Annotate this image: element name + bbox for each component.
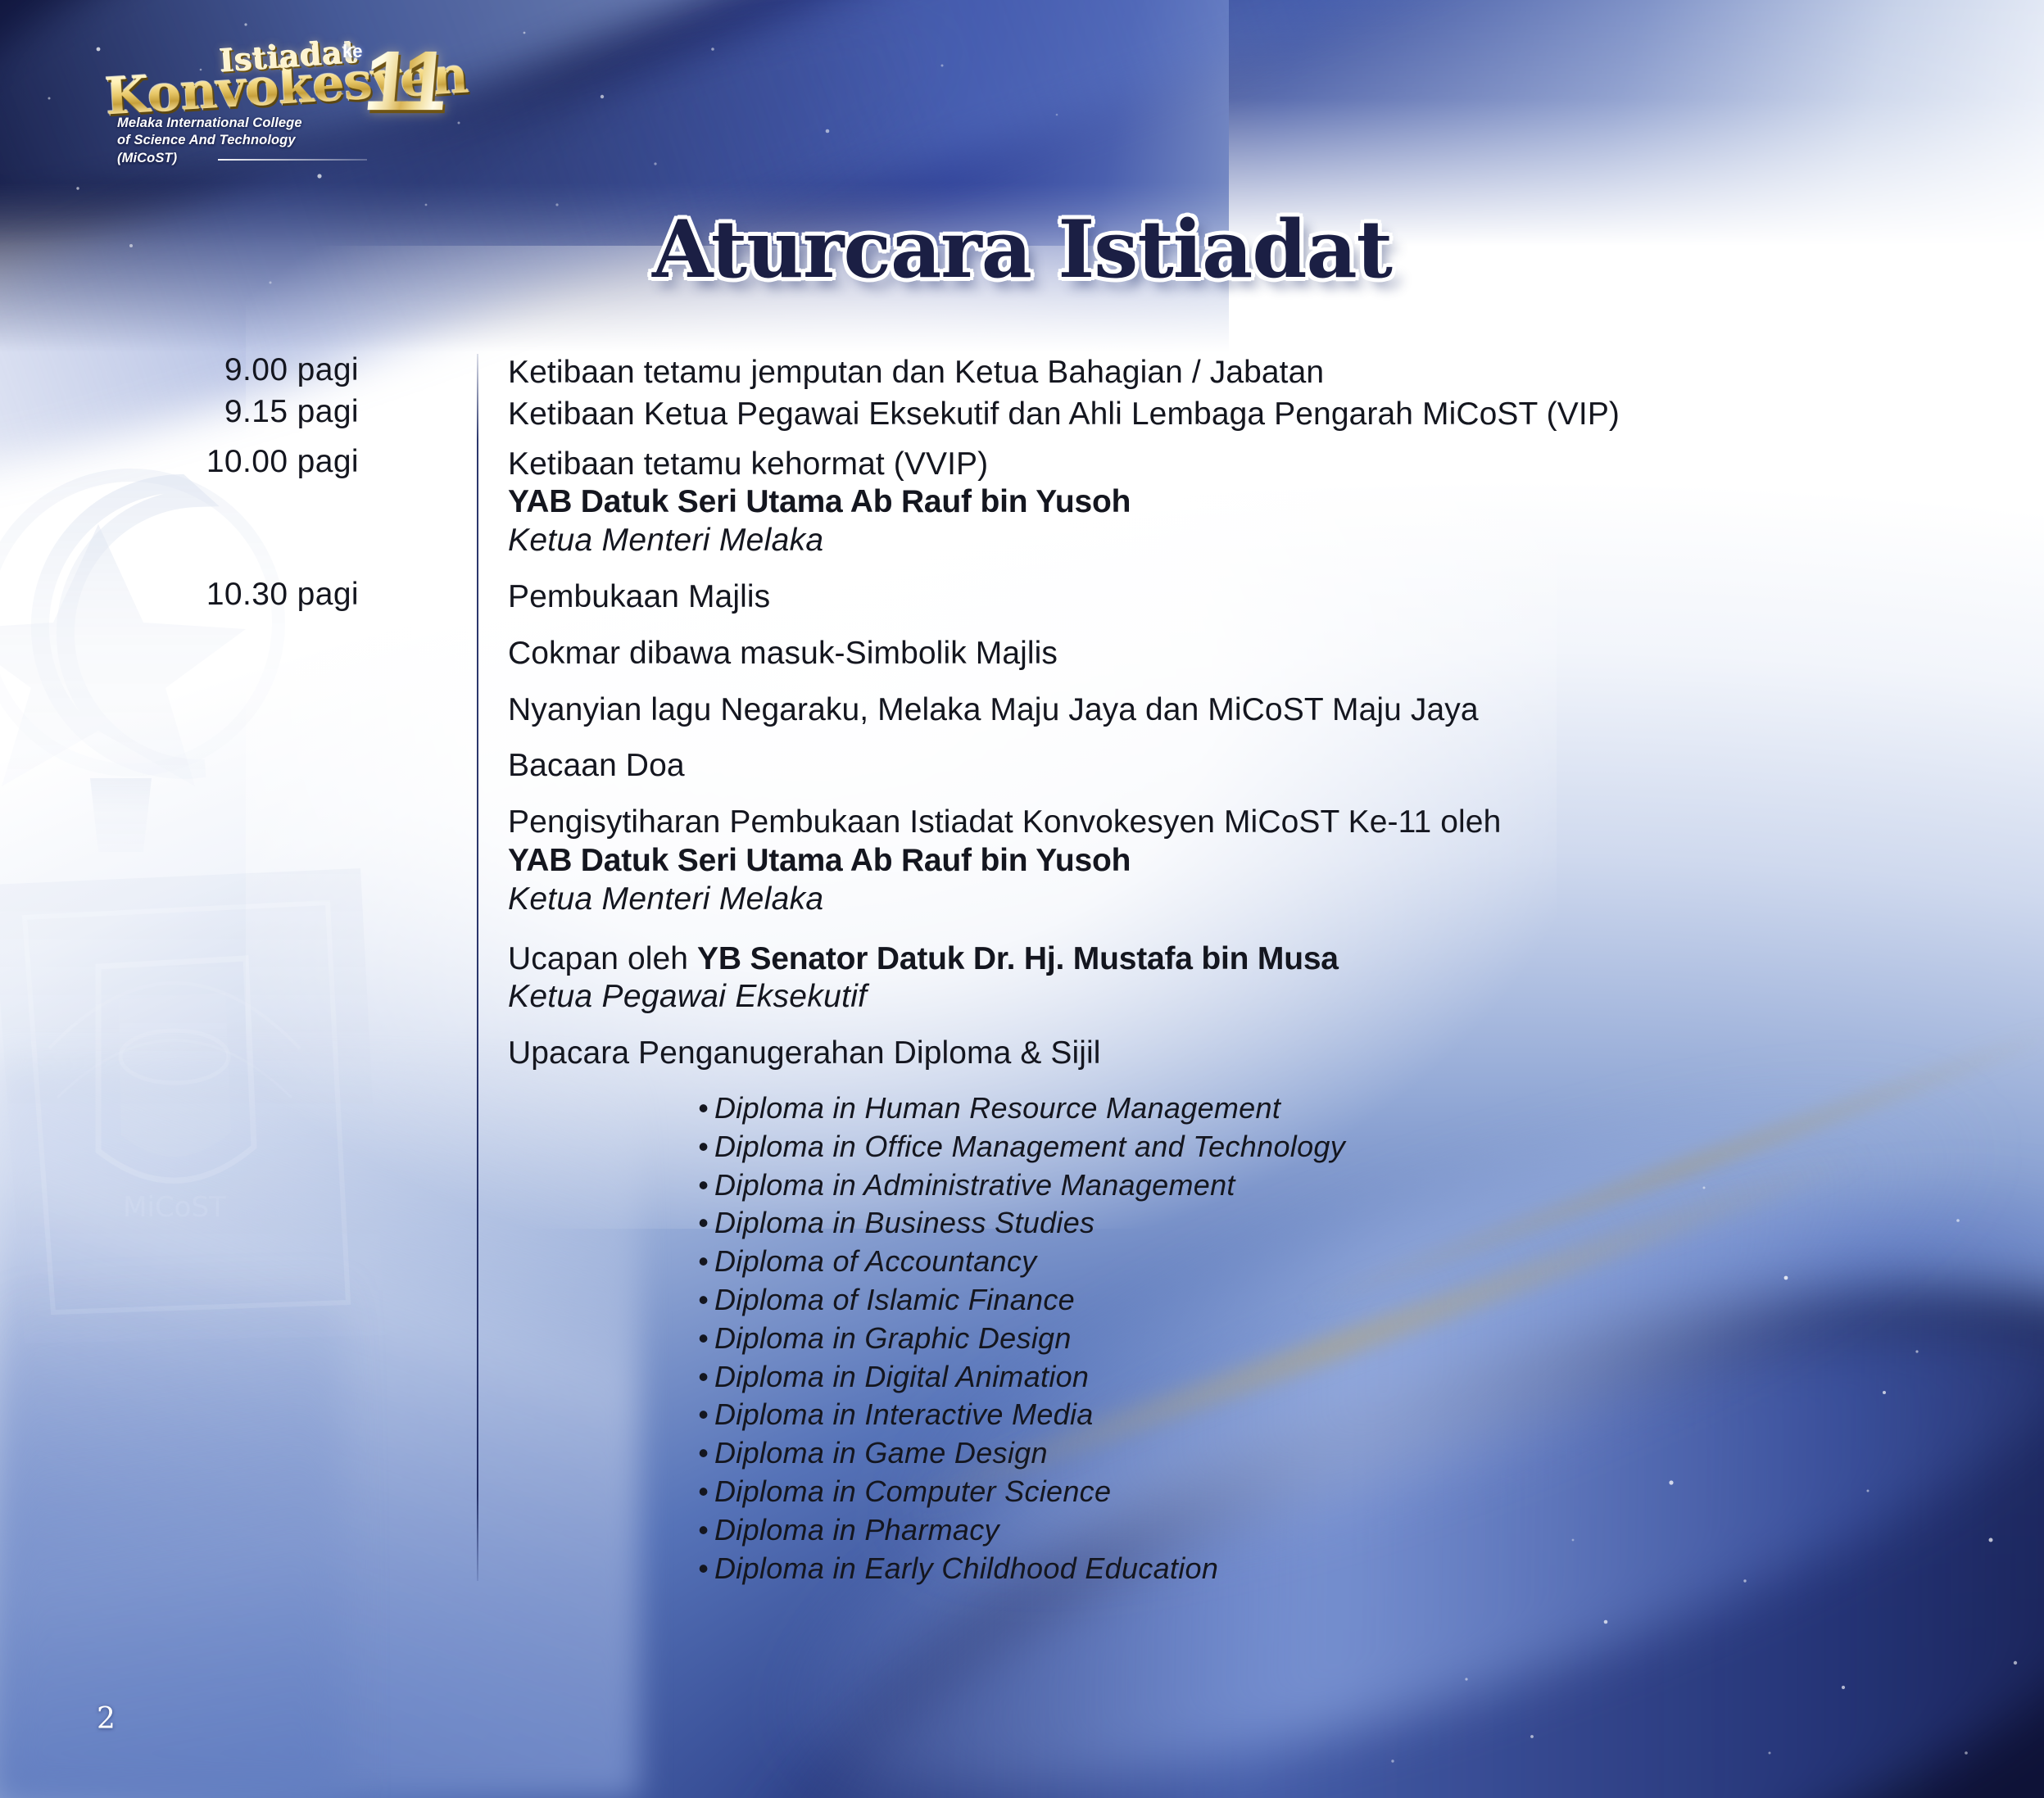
schedule-time: 9.00 pagi: [0, 354, 426, 392]
bullet-icon: •: [698, 1550, 714, 1588]
event-text-emphasis: YB Senator Datuk Dr. Hj. Mustafa bin Mus…: [697, 941, 1339, 976]
diploma-list-item: •Diploma in Computer Science: [698, 1473, 2044, 1511]
diploma-list-item: •Diploma in Administrative Management: [698, 1166, 2044, 1205]
schedule-time: 10.30 pagi: [0, 578, 426, 617]
diploma-list-item: •Diploma in Business Studies: [698, 1204, 2044, 1243]
schedule-event-body: Pembukaan Majlis: [426, 578, 2044, 617]
bullet-icon: •: [698, 1511, 714, 1550]
schedule-event-line: Ketua Menteri Melaka: [508, 881, 2044, 919]
bullet-icon: •: [698, 1281, 714, 1320]
schedule-event-body: Ucapan oleh YB Senator Datuk Dr. Hj. Mus…: [426, 940, 2044, 1017]
schedule-time: [0, 940, 426, 1017]
schedule-event-line: Nyanyian lagu Negaraku, Melaka Maju Jaya…: [508, 691, 2044, 730]
schedule-time: [0, 635, 426, 673]
schedule-event-body: Nyanyian lagu Negaraku, Melaka Maju Jaya…: [426, 691, 2044, 730]
schedule-time: [0, 691, 426, 730]
bullet-icon: •: [698, 1243, 714, 1281]
schedule-row: 10.00 pagiKetibaan tetamu kehormat (VVIP…: [0, 446, 2044, 560]
schedule-event-line: Bacaan Doa: [508, 747, 2044, 786]
schedule-row: Pengisytiharan Pembukaan Istiadat Konvok…: [0, 804, 2044, 918]
schedule-row: Bacaan Doa: [0, 747, 2044, 786]
schedule-row: 9.15 pagiKetibaan Ketua Pegawai Eksekuti…: [0, 396, 2044, 434]
schedule-row: Upacara Penganugerahan Diploma & Sijil•D…: [0, 1035, 2044, 1587]
schedule-event-body: Ketibaan Ketua Pegawai Eksekutif dan Ahl…: [426, 396, 2044, 434]
schedule-event-body: Bacaan Doa: [426, 747, 2044, 786]
bullet-icon: •: [698, 1473, 714, 1511]
diploma-list-item: •Diploma in Human Resource Management: [698, 1089, 2044, 1128]
schedule-row: 10.30 pagiPembukaan Majlis: [0, 578, 2044, 617]
konvokesyen-logo: Konvokesyen Istiadat ke 11 Melaka Intern…: [97, 36, 523, 151]
schedule-section: 9.00 pagiKetibaan tetamu jemputan dan Ke…: [0, 354, 2044, 1591]
schedule-rows: 9.00 pagiKetibaan tetamu jemputan dan Ke…: [0, 354, 2044, 1587]
schedule-event-line: Ketua Pegawai Eksekutif: [508, 978, 2044, 1017]
diploma-list-item: •Diploma in Early Childhood Education: [698, 1550, 2044, 1588]
schedule-event-line: Ketibaan tetamu kehormat (VVIP): [508, 446, 2044, 484]
logo-underline-rule: [218, 159, 367, 161]
schedule-event-body: Cokmar dibawa masuk-Simbolik Majlis: [426, 635, 2044, 673]
schedule-row: Cokmar dibawa masuk-Simbolik Majlis: [0, 635, 2044, 673]
schedule-event-line: Pengisytiharan Pembukaan Istiadat Konvok…: [508, 804, 2044, 842]
schedule-event-line: Upacara Penganugerahan Diploma & Sijil: [508, 1035, 2044, 1073]
diploma-list-item: •Diploma in Digital Animation: [698, 1358, 2044, 1397]
schedule-event-line: Cokmar dibawa masuk-Simbolik Majlis: [508, 635, 2044, 673]
diploma-list-item: •Diploma in Graphic Design: [698, 1320, 2044, 1358]
schedule-event-line: Ketua Menteri Melaka: [508, 522, 2044, 560]
schedule-time: 10.00 pagi: [0, 446, 426, 560]
diploma-list: •Diploma in Human Resource Management•Di…: [508, 1089, 2044, 1587]
diploma-list-item: •Diploma of Accountancy: [698, 1243, 2044, 1281]
schedule-time: 9.15 pagi: [0, 396, 426, 434]
schedule-event-body: Ketibaan tetamu kehormat (VVIP)YAB Datuk…: [426, 446, 2044, 560]
logo-subtitle-line-1: of Science And Technology: [117, 132, 363, 149]
event-text-prefix: Ucapan oleh: [508, 941, 697, 976]
bullet-icon: •: [698, 1320, 714, 1358]
diploma-list-item: •Diploma in Pharmacy: [698, 1511, 2044, 1550]
schedule-event-line: Ketibaan Ketua Pegawai Eksekutif dan Ahl…: [508, 396, 2044, 434]
diploma-list-item: •Diploma in Office Management and Techno…: [698, 1128, 2044, 1166]
schedule-event-line: YAB Datuk Seri Utama Ab Rauf bin Yusoh: [508, 483, 2044, 522]
logo-ke-label: ke: [342, 41, 362, 62]
schedule-event-line: Pembukaan Majlis: [508, 578, 2044, 617]
schedule-time: [0, 747, 426, 786]
bullet-icon: •: [698, 1166, 714, 1205]
schedule-row: Ucapan oleh YB Senator Datuk Dr. Hj. Mus…: [0, 940, 2044, 1017]
bullet-icon: •: [698, 1204, 714, 1243]
schedule-row: Nyanyian lagu Negaraku, Melaka Maju Jaya…: [0, 691, 2044, 730]
schedule-row: 9.00 pagiKetibaan tetamu jemputan dan Ke…: [0, 354, 2044, 392]
schedule-event-line: Ucapan oleh YB Senator Datuk Dr. Hj. Mus…: [508, 940, 2044, 979]
bullet-icon: •: [698, 1434, 714, 1473]
schedule-event-body: Ketibaan tetamu jemputan dan Ketua Bahag…: [426, 354, 2044, 392]
schedule-event-line: YAB Datuk Seri Utama Ab Rauf bin Yusoh: [508, 842, 2044, 881]
bullet-icon: •: [698, 1128, 714, 1166]
program-page: MiCoST Konvokesyen Istiadat ke 11 Melaka…: [0, 0, 2044, 1798]
page-number: 2: [97, 1702, 116, 1736]
page-title: Aturcara Istiadat: [0, 203, 2044, 296]
logo-subtitle-line-0: Melaka International College: [117, 115, 363, 132]
schedule-event-line: Ketibaan tetamu jemputan dan Ketua Bahag…: [508, 354, 2044, 392]
bullet-icon: •: [698, 1089, 714, 1128]
bullet-icon: •: [698, 1358, 714, 1397]
schedule-time: [0, 804, 426, 918]
bullet-icon: •: [698, 1396, 714, 1434]
diploma-list-item: •Diploma in Interactive Media: [698, 1396, 2044, 1434]
diploma-list-item: •Diploma in Game Design: [698, 1434, 2044, 1473]
logo-edition-number: 11: [360, 33, 449, 130]
schedule-event-body: Pengisytiharan Pembukaan Istiadat Konvok…: [426, 804, 2044, 918]
schedule-time: [0, 1035, 426, 1587]
schedule-event-body: Upacara Penganugerahan Diploma & Sijil•D…: [426, 1035, 2044, 1587]
diploma-list-item: •Diploma of Islamic Finance: [698, 1281, 2044, 1320]
